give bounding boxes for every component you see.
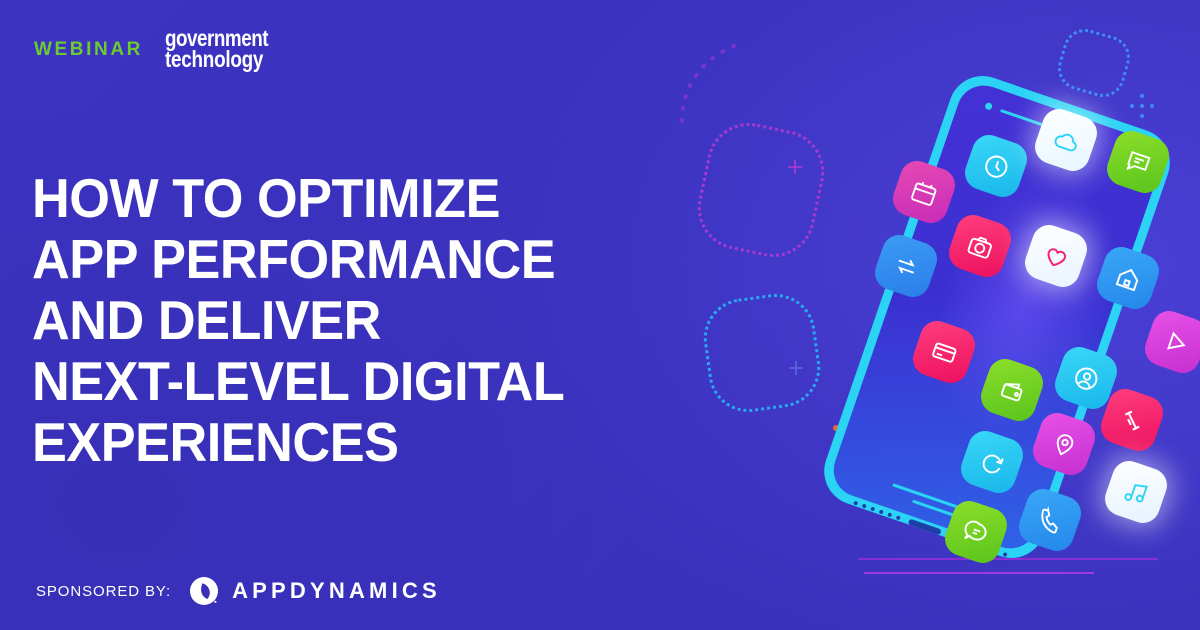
- app-tile-play[interactable]: [1140, 306, 1200, 377]
- app-tile-refresh[interactable]: [956, 426, 1027, 497]
- app-tile-grid: [822, 72, 1200, 592]
- cloud-icon: [1049, 123, 1083, 157]
- appdynamics-wordmark: APPDYNAMICS: [232, 578, 441, 604]
- app-tile-home[interactable]: [1092, 242, 1163, 313]
- location-pin-icon: [1047, 427, 1081, 461]
- webinar-promo-banner: WEBINAR government technology HOW TO OPT…: [0, 0, 1200, 630]
- chat-lines-icon: [959, 515, 993, 549]
- app-tile-credit-card[interactable]: [908, 316, 979, 387]
- credit-card-icon: [927, 335, 961, 369]
- chat-bubble-icon: [1121, 145, 1155, 179]
- headline-line-2: APP PERFORMANCE: [32, 229, 754, 290]
- headline-line-5: EXPERIENCES: [32, 412, 754, 473]
- wallet-icon: [995, 373, 1029, 407]
- phone-call-icon: [1033, 503, 1067, 537]
- play-icon: [1159, 325, 1193, 359]
- appdynamics-mark-icon: [189, 576, 219, 606]
- headline-line-4: NEXT-LEVEL DIGITAL: [32, 351, 754, 412]
- app-tile-cloud[interactable]: [1030, 104, 1101, 175]
- dumbbell-icon: [1115, 403, 1149, 437]
- headline-line-1: HOW TO OPTIMIZE: [32, 168, 754, 229]
- government-technology-logo: government technology: [165, 28, 268, 70]
- app-tile-heart[interactable]: [1020, 220, 1091, 291]
- appdynamics-logo: APPDYNAMICS: [189, 576, 441, 606]
- page-title: HOW TO OPTIMIZE APP PERFORMANCE AND DELI…: [32, 168, 792, 473]
- transfer-arrows-icon: [889, 249, 923, 283]
- calendar-icon: [907, 175, 941, 209]
- app-tile-messages[interactable]: [940, 496, 1011, 567]
- camera-icon: [963, 229, 997, 263]
- sponsor-block: SPONSORED BY: APPDYNAMICS: [36, 576, 441, 606]
- sponsored-by-label: SPONSORED BY:: [36, 583, 171, 600]
- app-tile-chat[interactable]: [1102, 126, 1173, 197]
- user-icon: [1069, 361, 1103, 395]
- app-tile-transfer[interactable]: [870, 230, 941, 301]
- music-note-icon: [1119, 475, 1153, 509]
- phone-illustration: [822, 72, 1200, 592]
- app-tile-calendar[interactable]: [888, 156, 959, 227]
- refresh-loop-icon: [975, 445, 1009, 479]
- eyebrow-webinar: WEBINAR: [34, 40, 143, 59]
- app-tile-music[interactable]: [1100, 456, 1171, 527]
- app-tile-wallet[interactable]: [976, 354, 1047, 425]
- brand-line-technology: technology: [165, 49, 268, 70]
- app-tile-location[interactable]: [1028, 408, 1099, 479]
- home-icon: [1111, 261, 1145, 295]
- dotted-arc-magenta: [672, 40, 742, 130]
- app-tile-camera[interactable]: [944, 210, 1015, 281]
- clock-icon: [979, 149, 1013, 183]
- header: WEBINAR government technology: [34, 28, 291, 70]
- headline-line-3: AND DELIVER: [32, 290, 754, 351]
- app-tile-phone-call[interactable]: [1014, 484, 1085, 555]
- heart-icon: [1039, 239, 1073, 273]
- app-tile-clock[interactable]: [960, 130, 1031, 201]
